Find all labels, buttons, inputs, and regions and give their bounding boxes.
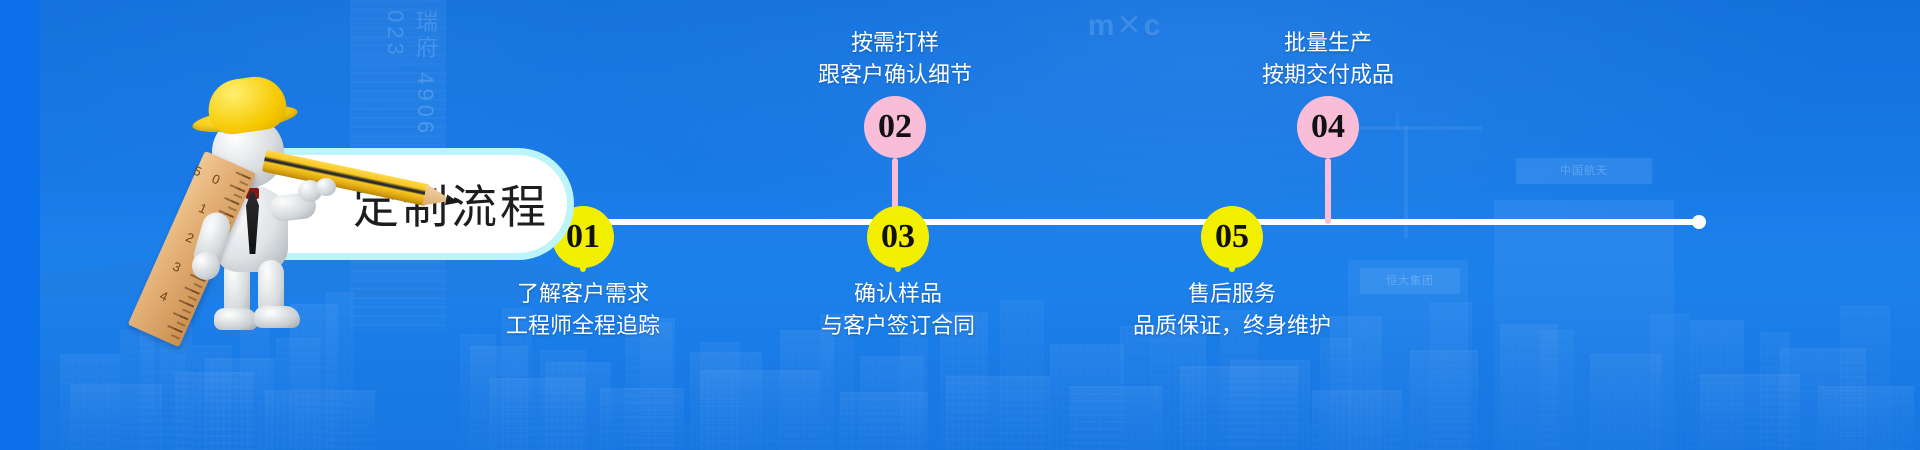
timeline-axis: [570, 219, 1700, 225]
hard-hat-dome: [205, 73, 290, 137]
step-03-caption: 确认样品 与客户签订合同: [748, 278, 1048, 342]
mascot-left-hand: [192, 252, 220, 280]
step-04-caption: 批量生产 按期交付成品: [1178, 27, 1478, 91]
mascot-front-shoe: [254, 306, 300, 328]
timeline-end-dot: [1692, 215, 1706, 229]
step-04-number: 04: [1311, 108, 1345, 146]
step-04-badge[interactable]: 04: [1297, 96, 1359, 158]
step-02-badge[interactable]: 02: [864, 96, 926, 158]
step-03-badge[interactable]: 03: [867, 206, 929, 268]
background-left-color-strip: [0, 0, 40, 450]
step-04-caption-line2: 按期交付成品: [1178, 59, 1478, 91]
step-01-caption-line1: 了解客户需求: [433, 278, 733, 310]
step-02-number: 02: [878, 108, 912, 146]
step-05-caption-line2: 品质保证，终身维护: [1082, 310, 1382, 342]
step-02-caption: 按需打样 跟客户确认细节: [745, 27, 1045, 91]
step-01-number: 01: [566, 218, 600, 256]
step-02-caption-line1: 按需打样: [745, 27, 1045, 59]
step-04-caption-line1: 批量生产: [1178, 27, 1478, 59]
step-05-caption: 售后服务 品质保证，终身维护: [1082, 278, 1382, 342]
process-flow-banner: 瑞府 4906 023 恒大集团 中国航天: [0, 0, 1920, 450]
step-03-caption-line2: 与客户签订合同: [748, 310, 1048, 342]
step-01-caption-line2: 工程师全程追踪: [433, 310, 733, 342]
step-04-stem: [1325, 158, 1331, 224]
step-03-number: 03: [881, 218, 915, 256]
step-05-caption-line1: 售后服务: [1082, 278, 1382, 310]
step-01-caption: 了解客户需求 工程师全程追踪: [433, 278, 733, 342]
mascot-back-shoe: [214, 308, 258, 330]
step-02-caption-line2: 跟客户确认细节: [745, 59, 1045, 91]
engineer-mascot-illustration: 0 1 2 3 4 5: [170, 62, 360, 322]
step-03-caption-line1: 确认样品: [748, 278, 1048, 310]
mascot-right-fingers: [316, 178, 336, 196]
step-05-badge[interactable]: 05: [1201, 206, 1263, 268]
step-05-number: 05: [1215, 218, 1249, 256]
